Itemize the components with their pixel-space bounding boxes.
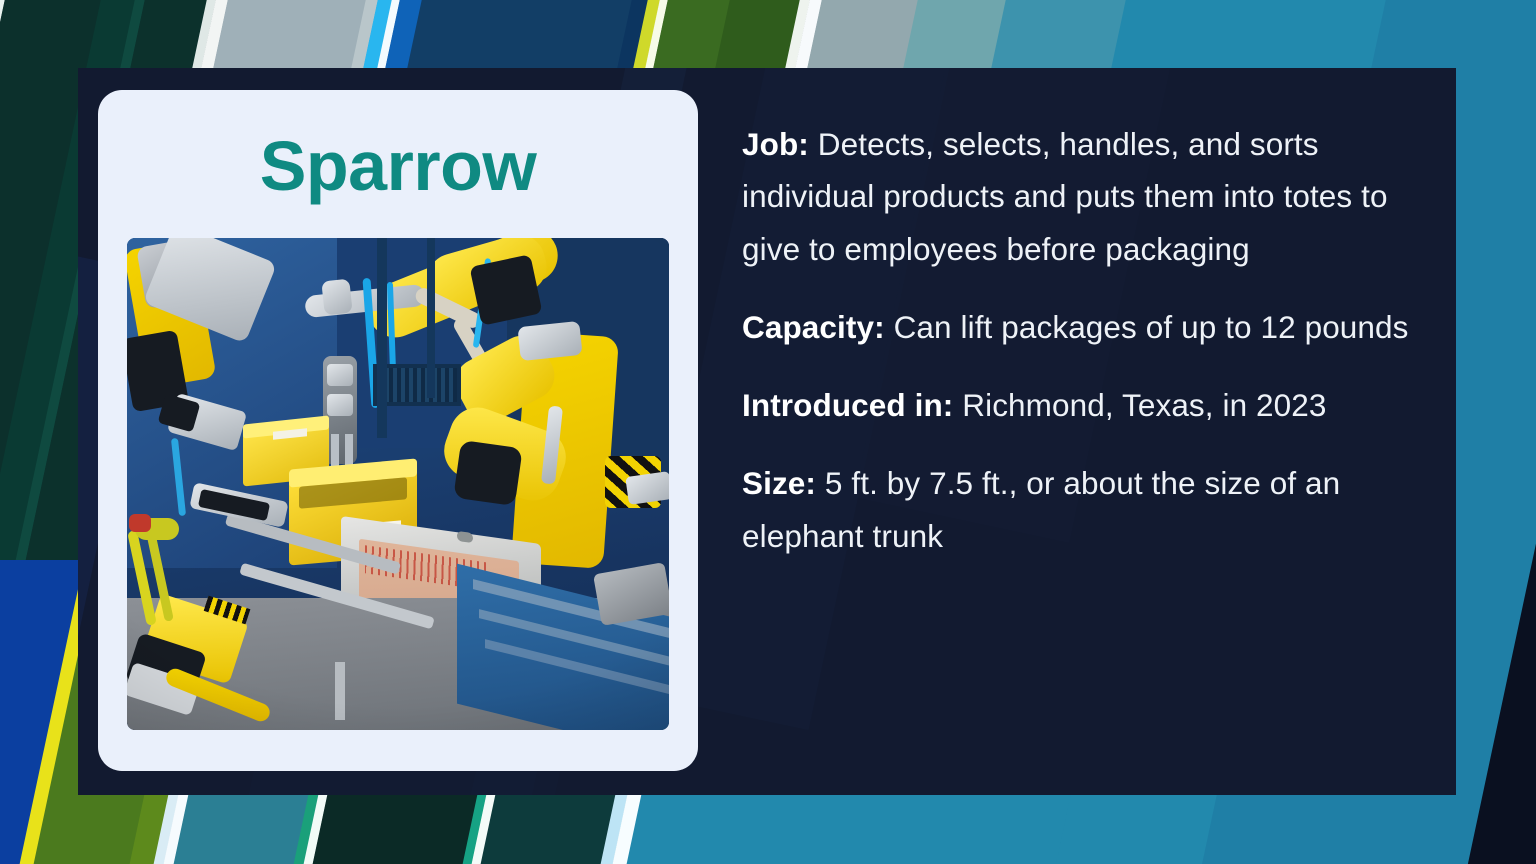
fact-label-capacity: Capacity:	[742, 309, 885, 345]
fact-value-job: Detects, selects, handles, and sorts ind…	[742, 126, 1388, 267]
fact-value-introduced-in: Richmond, Texas, in 2023	[962, 387, 1326, 423]
fact-label-introduced-in: Introduced in:	[742, 387, 953, 423]
fact-capacity: Capacity: Can lift packages of up to 12 …	[742, 301, 1422, 353]
facts-list: Job: Detects, selects, handles, and sort…	[742, 118, 1422, 562]
fact-size: Size: 5 ft. by 7.5 ft., or about the siz…	[742, 457, 1422, 562]
fact-label-job: Job:	[742, 126, 809, 162]
robot-photo-art	[127, 238, 669, 730]
sparrow-card: Sparrow	[98, 90, 698, 771]
fact-value-size: 5 ft. by 7.5 ft., or about the size of a…	[742, 465, 1340, 553]
content-panel: Sparrow	[78, 68, 1456, 795]
page-title: Sparrow	[98, 90, 698, 204]
fact-job: Job: Detects, selects, handles, and sort…	[742, 118, 1422, 275]
slide-root: Sparrow	[0, 0, 1536, 864]
fact-value-capacity: Can lift packages of up to 12 pounds	[894, 309, 1409, 345]
robot-photo	[127, 238, 669, 730]
fact-label-size: Size:	[742, 465, 816, 501]
fact-introduced-in: Introduced in: Richmond, Texas, in 2023	[742, 379, 1422, 431]
